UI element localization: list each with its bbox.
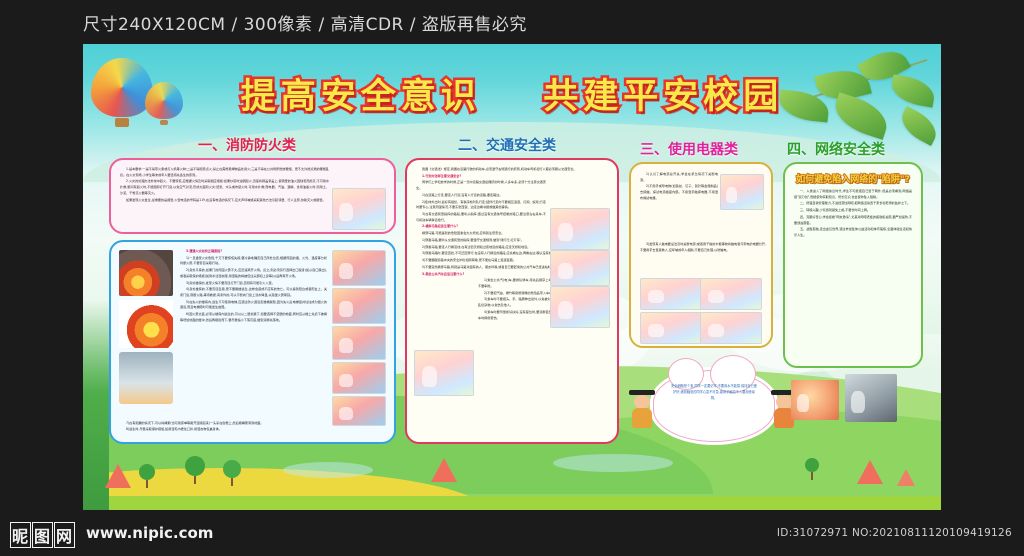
section-title-traffic: 二、交通安全类 (458, 135, 556, 155)
crossing-road-cartoon (550, 286, 610, 328)
headline-right: 共建平安校园 (543, 77, 783, 117)
fire-escape-8: 8)逃生时,尽量采取保护措施,如用湿毛巾捂住口鼻,用湿衣物包裹身体。 (120, 427, 388, 433)
tip-bubble-text: 安全细胞是个宝,同学一定要记牢;不要用水不能摸,保持自己爱护好;遇到触电的同学心… (670, 383, 758, 401)
network-item-2: 二、增强自我管理能力,不进经营性网吧,把网络活动置于家长和老师的监护之下。 (794, 201, 912, 207)
poster-page: 尺寸240X120CM / 300像素 / 高清CDR / 盗版再售必究 (0, 0, 1024, 556)
site-url[interactable]: www.nipic.com (86, 524, 213, 542)
traffic-intro: 我国《交通法》规定,我国在道路行驶的机动车,必须遵守右侧通行的原则,机动车司机和… (416, 167, 608, 173)
grass-strip (83, 496, 941, 510)
section-title-appliance: 三、使用电器类 (640, 139, 738, 159)
network-item-4: 四、克服好奇心,学会拒绝"网友邀请",尤其对网吧老板的殷勤和关照,要严加提防,不… (794, 215, 912, 226)
traffic-q2-1: 1)穿越马路,要听从交通民警的指挥;要遵守交通规则,做到'绿灯行,红灯停'。 (416, 238, 546, 244)
graduate-figure-left (629, 390, 655, 430)
section-title-fire: 一、消防防火类 (198, 135, 296, 155)
appliance-item-1: 1)认识了解电源总开关,学会在紧急情况下关断电源。 (640, 172, 718, 183)
fire-escape-1: 1)一旦遭受火灾危险,千万不要惊慌失措,要冷静地确定自己所处位置,根据周围的烟、… (180, 256, 327, 267)
building-fire-illustration (119, 352, 173, 404)
fire-basics-p3: 如果发现火灾发生,最重要的是报警,火警电话的号码是119,在没有电话的情况下,应… (120, 198, 329, 204)
network-item-5: 五、战胜孤独,走出虚幻世界,通过参加集体公益活动和体育锻炼,全面体验生活和快乐人… (794, 227, 912, 238)
appliance-item-3: 3)发现有人触电要设法及时关断电源;或者用干燥的木棍等物将触电者与带电的电器分开… (640, 242, 766, 253)
network-item-1: 一、人类进入了网络信息时代,学生不可能把自己置于网外,但是必须看到,网络是把"双… (794, 189, 912, 200)
network-item-3: 三、转移兴趣,少玩游戏避免上瘾,不要长时间上网。 (794, 208, 912, 214)
fire-alarm-cartoon (332, 188, 386, 230)
panel-traffic-safety: 我国《交通法》规定,我国在道路行驶的机动车,必须遵守右侧通行的原则,机动车司机和… (405, 158, 619, 444)
fire-prohibition-illustration (119, 300, 173, 348)
escape-cartoon-1 (332, 250, 386, 286)
traffic-q1-0: 同学们上学和放学的时候,正是一天中道路交通最拥挤的时候,人多车多,必须十分注意交… (416, 180, 546, 191)
bus-queue-cartoon (414, 350, 474, 396)
headline-left: 提高安全意识 (241, 77, 481, 117)
fire-basics-p1: 1.基本要求:一是不得带火柴或打火机等火种;二是不得随意点火,禁止在需燃易爆物品… (120, 167, 329, 178)
fire-scene-illustration (119, 250, 173, 296)
appliance-cartoon-2 (700, 278, 762, 310)
fire-escape-title: 3.遭遇火灾如何正确脱险? (180, 249, 327, 255)
poster-artboard: 提高安全意识 共建平安校园 一、消防防火类 二、交通安全类 三、使用电器类 四、… (83, 44, 941, 510)
electric-shock-cartoon-top (720, 174, 764, 210)
appliance-cartoon-1 (640, 278, 702, 310)
escape-cartoon-3 (332, 326, 386, 360)
fire-basics-p2: 2.火灾的处理办法非常中起火、不要惊慌,应根据火情及时采取相应措施:如果炒菜时油… (120, 179, 329, 196)
crosswalk-cartoon (550, 208, 610, 250)
fire-escape-6: 6)因火势太猛,必须从楼房内逃生的,可以从二层处跳下,但要选择不坚硬的地面,同时… (180, 312, 327, 323)
poster-headline: 提高安全意识 共建平安校园 (83, 68, 941, 119)
network-panel-title: 如何避免陷入网络的"陷阱"? (794, 172, 912, 185)
nipic-logo: 昵图网 (10, 522, 76, 548)
traffic-light-cartoon (550, 250, 610, 286)
student-computer-cartoon (791, 380, 839, 420)
appliance-cartoon-3 (640, 312, 702, 344)
fire-escape-4: 4)身处楼房的,不要盲目乱跑,更不要跳楼逃生,这样会造成不应有的伤亡。可以躲到阳… (180, 287, 327, 298)
footer-bar: 昵图网 www.nipic.com ID:31072971 NO:2021081… (0, 510, 1024, 556)
section-title-network: 四、网络安全类 (787, 139, 885, 159)
escape-cartoon-2 (332, 288, 386, 324)
panel-fire-basics: 1.基本要求:一是不得带火柴或打火机等火种;二是不得随意点火,禁止在需燃易爆物品… (109, 158, 396, 234)
logo-char-1: 昵 (10, 522, 31, 548)
computer-monitor-illustration (845, 374, 897, 422)
appliance-item-2: 2)不用手或导电物(如铁丝、钉子、别针等金属制品)去接触、探试电源插座内部。不用… (640, 184, 718, 201)
panel-fire-escape: 3.遭遇火灾如何正确脱险? 1)一旦遭受火灾危险,千万不要惊慌失措,要冷静地确定… (109, 240, 396, 444)
top-caption-bar: 尺寸240X120CM / 300像素 / 高清CDR / 盗版再售必究 (0, 0, 1024, 44)
panel-appliance-safety: 1)认识了解电源总开关,学会在紧急情况下关断电源。 2)不用手或导电物(如铁丝、… (629, 162, 773, 348)
escape-cartoon-5 (332, 396, 386, 426)
logo-char-3: 网 (54, 522, 75, 548)
spec-caption: 尺寸240X120CM / 300像素 / 高清CDR / 盗版再售必究 (83, 10, 527, 35)
asset-id-label: ID:31072971 NO:20210811120109419126 (777, 527, 1012, 539)
escape-cartoon-4 (332, 362, 386, 394)
traffic-q1-3: 3)在有交通民警指挥的路段,要听从指挥;通过没有交通信号控制的路口,要注意左右来… (416, 212, 546, 223)
traffic-q1-1: 1)在道路上行走,要走人行道;没有人行道的道路,要走路边。 (416, 193, 546, 199)
fire-escape-3: 3)身处楼房的,发现火情不要盲目打开门窗,否则有可能引火入室。 (180, 281, 327, 287)
fire-escape-5: 5)在失火的楼房内,逃生不可使用电梯,应通过防火通道走楼梯脱险,因为失火后电梯竖… (180, 300, 327, 311)
fire-escape-2: 2)身处平房的,如果门的周围火势不大,应迅速离开火场。反之,则必须另行选择出口脱… (180, 268, 327, 279)
traffic-q2-0: 横穿马路,可能遇到的危险因素会大大增加,应特别注意安全。 (416, 231, 546, 237)
traffic-q1-2: 2)集体外出时,最好有组织、有秩序地列队行走;结伴行走时不要相互追逐、打闹、嬉戏… (416, 200, 546, 211)
logo-char-2: 图 (32, 522, 53, 548)
traffic-q1: 1.行走时怎样注意交通安全? (416, 174, 608, 180)
panel-network-safety: 如何避免陷入网络的"陷阱"? 一、人类进入了网络信息时代,学生不可能把自己置于网… (783, 162, 923, 368)
appliance-cartoon-4 (700, 312, 762, 344)
tip-speech-bubble: 安全细胞是个宝,同学一定要记牢;不要用水不能摸,保持自己爱护好;遇到触电的同学心… (653, 370, 775, 442)
